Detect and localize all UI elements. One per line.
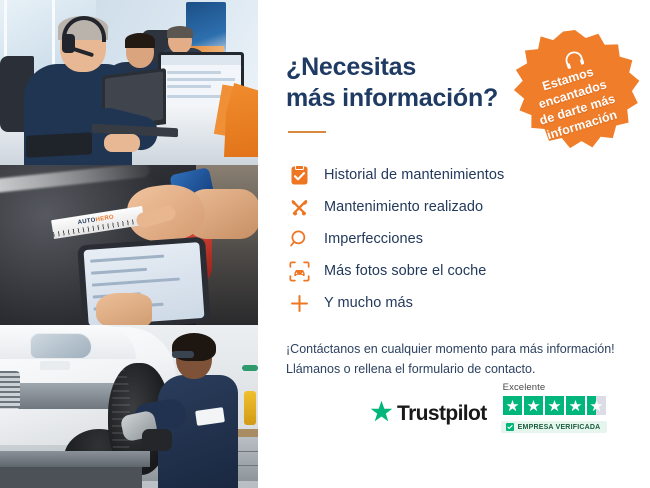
star-filled: [524, 396, 543, 415]
agent-3-hair: [167, 26, 193, 38]
tablet-on-desk: [26, 132, 92, 157]
trustpilot-wordmark: Trustpilot: [397, 402, 487, 426]
photo-column: AUTOHERO: [0, 0, 258, 488]
feature-item-historial[interactable]: Historial de mantenimientos: [288, 159, 650, 191]
car-grille: [0, 371, 20, 409]
mechanic-glove-second: [142, 429, 172, 451]
car-inspection-ruler-photo: AUTOHERO: [0, 165, 258, 325]
headline-line-2: más información?: [286, 84, 498, 112]
contact-paragraph: ¡Contáctanos en cualquier momento para m…: [286, 339, 636, 380]
car-headlight: [30, 333, 92, 359]
feature-label: Más fotos sobre el coche: [324, 263, 486, 279]
feature-label: Mantenimiento realizado: [324, 199, 483, 215]
feature-label: Imperfecciones: [324, 231, 423, 247]
contact-line-1: ¡Contáctanos en cualquier momento para m…: [286, 342, 615, 356]
verified-label: EMPRESA VERIFICADA: [518, 424, 601, 431]
star-filled: [503, 396, 522, 415]
inspector-hand-holding-tablet: [96, 293, 152, 325]
trustpilot-widget[interactable]: Trustpilot Excelente: [370, 382, 607, 433]
support-badge: Estamos encantados de darte más informac…: [510, 30, 640, 157]
green-hose: [242, 365, 258, 371]
star-partial: [587, 396, 606, 415]
agent-2-hair: [125, 33, 155, 48]
trustpilot-logo: Trustpilot: [370, 400, 487, 433]
agent-1-hand: [104, 134, 140, 152]
car-scan-icon: [288, 260, 310, 282]
feature-label: Historial de mantenimientos: [324, 167, 504, 183]
feature-item-mas[interactable]: Y mucho más: [288, 287, 650, 319]
page-title: ¿Necesitas más información?: [286, 52, 536, 113]
star-filled: [545, 396, 564, 415]
content-panel: ¿Necesitas más información? Estamos enca…: [258, 0, 650, 488]
feature-item-imperfecciones[interactable]: Imperfecciones: [288, 223, 650, 255]
trustpilot-star-icon: [370, 400, 393, 427]
headline-line-1: ¿Necesitas: [286, 53, 416, 81]
fluid-bottle: [244, 391, 256, 425]
trustpilot-rating: Excelente: [501, 382, 608, 433]
rating-label: Excelente: [501, 382, 546, 393]
star-filled: [566, 396, 585, 415]
car-lift-arm: [0, 451, 150, 467]
title-divider: [288, 131, 326, 133]
feature-item-fotos[interactable]: Más fotos sobre el coche: [288, 255, 650, 287]
contact-line-2: Llámanos o rellena el formulario de cont…: [286, 362, 535, 376]
license-plate-area: [40, 361, 70, 370]
call-center-agents-photo: [0, 0, 258, 165]
star-rating: [503, 396, 606, 415]
feature-list: Historial de mantenimientos M: [286, 159, 650, 319]
clipboard-check-icon: [288, 164, 310, 186]
verified-badge: EMPRESA VERIFICADA: [501, 421, 608, 433]
feature-label: Y mucho más: [324, 295, 413, 311]
car-lift-base: [0, 467, 142, 488]
magnifier-icon: [288, 228, 310, 250]
promo-card: AUTOHERO: [0, 0, 650, 488]
screen-toolbar: [161, 55, 241, 65]
plus-icon: [288, 292, 310, 314]
safety-glasses-icon: [172, 351, 194, 358]
check-icon: [506, 423, 514, 431]
wrench-screwdriver-icon: [288, 196, 310, 218]
mechanic-wheel-photo: [0, 325, 258, 488]
feature-item-mantenimiento[interactable]: Mantenimiento realizado: [288, 191, 650, 223]
